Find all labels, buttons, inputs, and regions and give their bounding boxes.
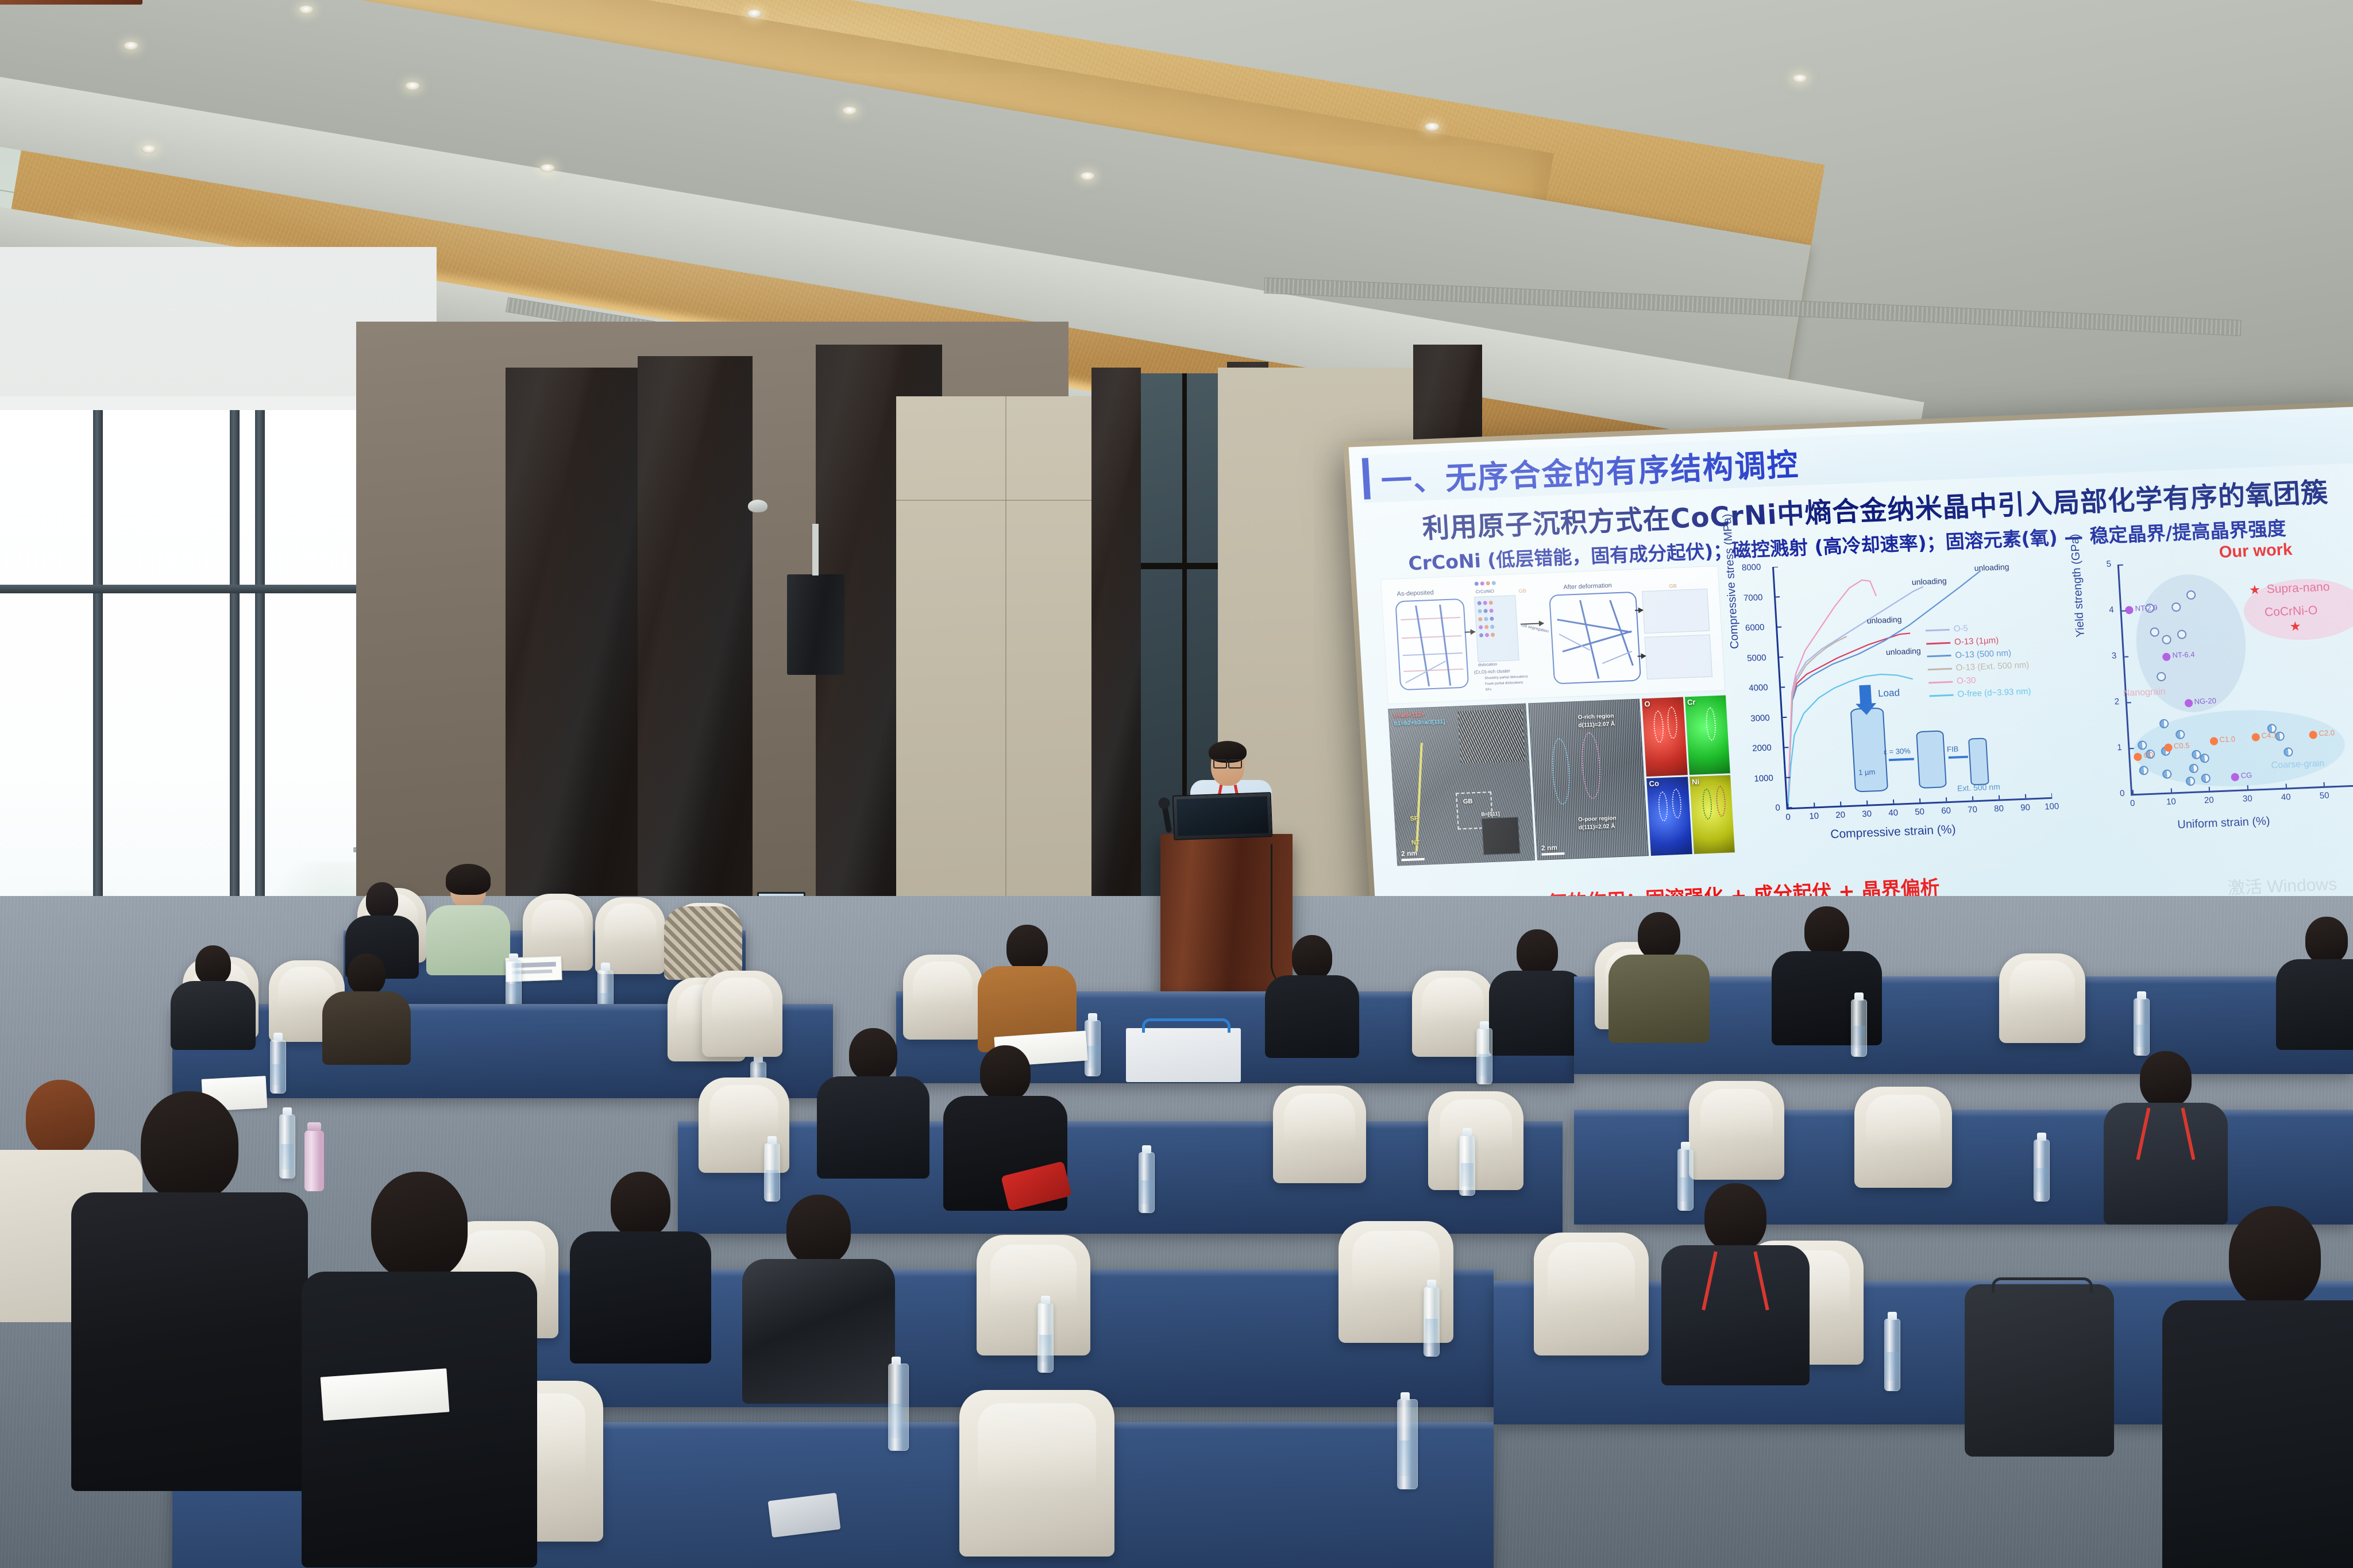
downlight-icon bbox=[141, 145, 156, 153]
tick bbox=[2130, 748, 2134, 749]
water-bottle bbox=[1424, 1287, 1440, 1357]
conference-tote-bag bbox=[1126, 1028, 1241, 1082]
attendee-head bbox=[1517, 929, 1558, 975]
element-label: Co bbox=[1649, 779, 1659, 788]
attendee-olive-hoodie bbox=[1607, 912, 1711, 1041]
chart-a-ylabel: Compressive stress (MPa) bbox=[1721, 513, 1742, 649]
attendee-hair bbox=[446, 864, 491, 895]
water-bottle bbox=[2134, 998, 2150, 1056]
label-gb: GB bbox=[1518, 588, 1526, 594]
water-bottle bbox=[1476, 1028, 1492, 1084]
ytick: 1 bbox=[2117, 743, 2122, 752]
attendee bbox=[170, 945, 256, 1048]
attendee-head bbox=[1006, 925, 1048, 971]
attendee-head bbox=[141, 1091, 238, 1200]
chair[interactable] bbox=[1999, 953, 2085, 1043]
ytick: 0 bbox=[1775, 803, 1780, 813]
backpack bbox=[1965, 1284, 2114, 1457]
tick bbox=[2121, 611, 2126, 612]
attendee bbox=[569, 1172, 712, 1361]
data-point-nanograin bbox=[2177, 629, 2187, 639]
label-alloy: CrCoNiO bbox=[1475, 589, 1494, 594]
xtick: 20 bbox=[2204, 795, 2215, 806]
arrow-icon bbox=[1465, 631, 1475, 633]
chart-b-axes: 5 4 3 2 1 0 0 10 20 30 40 50 60 Na bbox=[2117, 555, 2353, 795]
ceiling-speaker bbox=[787, 574, 844, 675]
downlight-icon bbox=[842, 107, 857, 115]
data-point-coarse-grain bbox=[2175, 729, 2185, 739]
notepad bbox=[321, 1368, 450, 1420]
ytick: 4 bbox=[2109, 605, 2114, 615]
tem-image-dislocation: b=a/6<112> b1=b2+b3=a/3[111] SF NT GB B=… bbox=[1388, 704, 1535, 866]
data-point-label: C1.0 bbox=[2219, 735, 2235, 744]
water-bottle bbox=[270, 1040, 286, 1094]
water-bottle bbox=[1459, 1135, 1475, 1196]
xtick: 50 bbox=[2319, 791, 2329, 801]
ytick: 7000 bbox=[1743, 593, 1763, 603]
legend-item: Frank partial dislocations bbox=[1485, 681, 1523, 686]
tick bbox=[2324, 782, 2325, 786]
slide-title: 一、无序合金的有序结构调控 bbox=[1379, 439, 1800, 501]
inset-load-label: Load bbox=[1878, 687, 1900, 699]
data-point-label: NT-6.4 bbox=[2172, 650, 2195, 660]
window-head-trim bbox=[0, 396, 402, 410]
downlight-icon bbox=[405, 82, 420, 90]
data-point-coarse-grain bbox=[2186, 777, 2196, 786]
data-point-coarse-grain bbox=[2189, 764, 2198, 774]
attendee-red-lanyard bbox=[1660, 1183, 1811, 1384]
downlight-icon bbox=[1792, 75, 1807, 83]
inset-strain-label: ε = 30% bbox=[1884, 747, 1911, 756]
o-poor-label: O-poor region bbox=[1578, 815, 1617, 823]
inset-fib-label: FIB bbox=[1947, 744, 1959, 754]
attendee-torso bbox=[171, 981, 256, 1050]
water-bottle bbox=[279, 1114, 295, 1179]
data-point-coarse-grain bbox=[2201, 774, 2211, 783]
attendee-green-jacket bbox=[425, 867, 511, 976]
eds-map-grid: O Cr Co bbox=[1642, 696, 1735, 856]
data-point-coarse-grain bbox=[2200, 754, 2209, 763]
attendee-torso bbox=[570, 1231, 711, 1364]
lanyard bbox=[2142, 1107, 2190, 1160]
attendee-head bbox=[195, 945, 231, 984]
xtick: 60 bbox=[1941, 806, 1951, 816]
diffraction-pattern-inset bbox=[1482, 817, 1521, 855]
attendee-black-jacket-red-sleeve bbox=[942, 1045, 1069, 1212]
lattice-panel bbox=[1642, 589, 1710, 634]
water-bottle bbox=[1139, 1152, 1155, 1213]
xtick: 90 bbox=[2020, 802, 2031, 813]
eds-map-cobalt: Co bbox=[1646, 777, 1692, 856]
data-point-coarse-grain bbox=[2283, 747, 2293, 757]
annotation-unloading: unloading bbox=[1911, 576, 1947, 586]
attendee-torso bbox=[2276, 959, 2353, 1050]
xtick: 80 bbox=[1994, 804, 2004, 814]
title-accent-bar bbox=[1362, 458, 1371, 499]
load-arrow-head bbox=[1856, 703, 1877, 715]
downlight-icon bbox=[1080, 172, 1095, 180]
chair[interactable] bbox=[959, 1390, 1114, 1557]
data-point-labeled bbox=[2134, 753, 2142, 762]
water-bottle bbox=[1397, 1399, 1418, 1489]
thermos-bottle bbox=[304, 1130, 324, 1191]
scale-bar: 2 nm bbox=[1541, 843, 1564, 856]
data-point-labeled bbox=[2309, 731, 2317, 739]
element-label: Cr bbox=[1687, 698, 1696, 707]
chair[interactable] bbox=[1428, 1091, 1523, 1190]
attendee bbox=[1264, 935, 1360, 1056]
element-label: Ni bbox=[1692, 777, 1700, 786]
annotation-unloading: unloading bbox=[1866, 615, 1902, 625]
tick bbox=[2209, 787, 2210, 791]
chair[interactable] bbox=[1273, 1086, 1366, 1183]
figure-microstructure: As-deposited CrCoNiO GB bbox=[1380, 566, 1735, 866]
ytick: 2 bbox=[2114, 697, 2119, 706]
conference-room-photo: 一、无序合金的有序结构调控 利用原子沉积方式在CoCrNi中熵合金纳米晶中引入局… bbox=[0, 0, 2353, 1568]
label-nt: NT bbox=[1411, 839, 1420, 847]
chair[interactable] bbox=[903, 955, 982, 1040]
data-point-nanograin bbox=[2162, 635, 2171, 644]
label-gb-tem: GB bbox=[1463, 798, 1473, 805]
chart-b-points: NT-2.9NT-6.4NG-20CGC0C0.5C1.0C4.1C2.0 bbox=[2119, 555, 2353, 794]
inset-pillar-before bbox=[1850, 708, 1888, 793]
tem-inset-atomic bbox=[1458, 709, 1525, 764]
ytick: 5 bbox=[2106, 559, 2111, 569]
attendee-torso bbox=[1489, 971, 1586, 1056]
attendee-head bbox=[2229, 1206, 2321, 1307]
label-as-deposited: As-deposited bbox=[1397, 589, 1434, 598]
label-after-deformation: After deformation bbox=[1563, 582, 1612, 590]
data-point-coarse-grain bbox=[2138, 740, 2147, 750]
ytick: 3 bbox=[2112, 651, 2117, 661]
tick bbox=[2247, 785, 2248, 789]
xtick: 0 bbox=[1785, 812, 1791, 822]
podium-top bbox=[0, 0, 142, 5]
tem-image-row: b=a/6<112> b1=b2+b3=a/3[111] SF NT GB B=… bbox=[1388, 696, 1735, 866]
data-point-labeled bbox=[2162, 652, 2171, 661]
label-sf: SF bbox=[1410, 815, 1418, 822]
attendee-glasses bbox=[816, 1028, 931, 1177]
ytick: 6000 bbox=[1745, 623, 1765, 633]
attendee-leather-jacket bbox=[741, 1195, 896, 1401]
tem-image-orich: O-rich region d(111)=2.07 Å O-poor regio… bbox=[1528, 699, 1649, 860]
xtick: 40 bbox=[1888, 808, 1899, 818]
tick bbox=[2170, 788, 2171, 792]
attendee bbox=[322, 953, 411, 1063]
attendee-head bbox=[2305, 917, 2348, 964]
attendee-head bbox=[786, 1195, 851, 1265]
data-point-coarse-grain bbox=[2162, 769, 2172, 779]
data-point-coarse-grain bbox=[2159, 719, 2169, 729]
tick bbox=[2124, 656, 2128, 657]
label-dislocation: dislocation bbox=[1478, 662, 1497, 667]
data-point-label: NT-2.9 bbox=[2135, 603, 2158, 613]
data-point-nanograin bbox=[2150, 627, 2160, 637]
attendee-patterned bbox=[663, 894, 743, 980]
water-bottle bbox=[1884, 1319, 1900, 1391]
ytick: 4000 bbox=[1749, 683, 1768, 693]
o-poor-region-outline bbox=[1550, 738, 1572, 805]
attendee-torso bbox=[322, 991, 411, 1065]
water-bottle bbox=[764, 1143, 780, 1202]
scale-bar: 2 nm bbox=[1401, 849, 1425, 862]
data-point-label: C2.0 bbox=[2319, 728, 2335, 737]
water-bottle bbox=[1037, 1303, 1054, 1373]
element-label: O bbox=[1644, 700, 1650, 708]
data-point-nanograin bbox=[2157, 672, 2166, 682]
attendee-torso bbox=[71, 1192, 308, 1491]
tick bbox=[2285, 783, 2286, 787]
chair[interactable] bbox=[1689, 1081, 1784, 1180]
data-point-coarse-grain bbox=[2139, 766, 2148, 776]
chart-yield-strength: Yield strength (GPa) Uniform strain (%) … bbox=[2075, 540, 2353, 845]
attendee-torso bbox=[664, 906, 742, 980]
ytick: 2000 bbox=[1752, 743, 1772, 753]
arrow-icon bbox=[1635, 609, 1643, 611]
attendee-head bbox=[849, 1028, 897, 1081]
chart-b-xlabel: Uniform strain (%) bbox=[2177, 815, 2270, 832]
zone-axis-label: B=[011] bbox=[1481, 810, 1500, 817]
data-point-label: C0 bbox=[2143, 751, 2153, 760]
attendee-head bbox=[1292, 935, 1332, 980]
attendee-foreground-far-right bbox=[2160, 1206, 2353, 1568]
xtick: 10 bbox=[2166, 797, 2177, 807]
security-camera-icon bbox=[748, 500, 767, 512]
attendee-head bbox=[366, 882, 398, 919]
ytick: 8000 bbox=[1741, 562, 1761, 573]
label-cluster: (Cr,O)-rich cluster bbox=[1474, 669, 1511, 675]
attendee-head bbox=[1638, 912, 1680, 959]
xtick: 30 bbox=[1862, 809, 1872, 819]
attendee-head bbox=[2140, 1051, 2192, 1107]
attendee-foreground-glasses bbox=[69, 1091, 310, 1493]
xtick: 40 bbox=[2281, 792, 2291, 802]
inset-result-label: Ext. 500 nm bbox=[1957, 782, 2001, 793]
legend-item: SFs bbox=[1485, 688, 1491, 692]
xtick: 10 bbox=[1809, 811, 1819, 821]
water-bottle bbox=[1851, 999, 1867, 1057]
attendee-head bbox=[371, 1172, 468, 1280]
ytick: 0 bbox=[2120, 789, 2125, 798]
grain-diagram-after bbox=[1549, 592, 1641, 685]
data-point-label: C4.1 bbox=[2261, 731, 2277, 740]
eds-map-oxygen: O bbox=[1642, 697, 1687, 777]
schematic-panel: As-deposited CrCoNiO GB bbox=[1380, 566, 1725, 704]
data-point-labeled bbox=[2251, 733, 2260, 742]
data-point-nanograin bbox=[2186, 590, 2196, 600]
data-point-labeled bbox=[2184, 699, 2193, 708]
eds-map-nickel: Ni bbox=[1689, 775, 1735, 854]
water-bottle bbox=[506, 960, 522, 1011]
chair[interactable] bbox=[977, 1235, 1090, 1355]
o-rich-label: O-rich region bbox=[1577, 713, 1614, 721]
attendee-head bbox=[980, 1045, 1031, 1100]
chart-stress-strain: Compressive stress (MPa) Compressive str… bbox=[1728, 549, 2085, 856]
ytick: 5000 bbox=[1747, 653, 1766, 663]
xtick: 70 bbox=[1968, 805, 1978, 815]
glasses-icon bbox=[1213, 759, 1242, 766]
tick bbox=[2127, 702, 2131, 703]
attendee-torso bbox=[1608, 955, 1710, 1043]
attendee-torso bbox=[2162, 1300, 2353, 1568]
downlight-icon bbox=[1425, 123, 1440, 131]
attendee-head bbox=[1804, 906, 1849, 956]
label-gb-segregation: GB segregation bbox=[1521, 623, 1549, 634]
downlight-icon bbox=[299, 6, 314, 14]
annotation-unloading: unloading bbox=[1974, 562, 2009, 573]
data-point-our-work bbox=[2290, 621, 2301, 632]
tick bbox=[2119, 565, 2123, 566]
xtick: 0 bbox=[2130, 798, 2135, 808]
ytick: 3000 bbox=[1750, 713, 1770, 724]
data-point-labeled bbox=[2164, 743, 2173, 752]
attendee-head bbox=[348, 953, 385, 995]
attendee-torso bbox=[426, 905, 510, 975]
eds-map-chromium: Cr bbox=[1684, 696, 1730, 775]
stacking-fault-line bbox=[1415, 743, 1423, 852]
water-bottle bbox=[888, 1364, 909, 1451]
water-bottle bbox=[2034, 1140, 2050, 1202]
data-point-nanograin bbox=[2171, 603, 2181, 612]
inset-pillar-compressed bbox=[1916, 730, 1947, 789]
ytick: 1000 bbox=[1754, 773, 1773, 783]
attendee-torso bbox=[1265, 975, 1359, 1058]
data-point-our-work bbox=[2250, 585, 2261, 596]
data-point-label: C0.5 bbox=[2174, 741, 2190, 750]
xtick: 50 bbox=[1915, 807, 1925, 817]
burgers-vector-label: b=a/6<112> bbox=[1394, 712, 1425, 719]
data-point-labeled bbox=[2209, 737, 2218, 746]
attendee-head bbox=[1704, 1183, 1766, 1251]
arrow-icon bbox=[1638, 655, 1646, 657]
downlight-icon bbox=[124, 42, 138, 50]
grain-diagram-before bbox=[1395, 598, 1469, 691]
data-point-labeled bbox=[2231, 773, 2239, 782]
lattice-panel bbox=[1645, 635, 1712, 679]
attendee-torso bbox=[742, 1259, 895, 1404]
attendee bbox=[1488, 929, 1587, 1053]
inset-diameter-label: 1 µm bbox=[1858, 767, 1876, 777]
o-rich-region-outline bbox=[1580, 732, 1602, 799]
burgers-vector-label-2: b1=b2+b3=a/3[111] bbox=[1394, 719, 1445, 727]
legend-item: Shockley partial dislocations bbox=[1484, 675, 1528, 680]
attendee-red-lanyard bbox=[2103, 1051, 2229, 1223]
presenter-laptop[interactable] bbox=[1172, 792, 1273, 840]
xtick: 100 bbox=[2045, 801, 2059, 812]
attendee-head bbox=[611, 1172, 670, 1237]
tick bbox=[2132, 790, 2134, 794]
chart-a-xlabel: Compressive strain (%) bbox=[1830, 823, 1956, 842]
lanyard bbox=[1708, 1251, 1763, 1311]
label-gb-top: GB bbox=[1669, 583, 1677, 589]
annotation-unloading: unloading bbox=[1885, 646, 1921, 656]
xtick: 20 bbox=[1835, 810, 1846, 820]
tick bbox=[2132, 794, 2136, 795]
downlight-icon bbox=[747, 10, 762, 18]
o-poor-value: d(111)=2.02 Å bbox=[1579, 823, 1615, 831]
attendee-torso bbox=[817, 1076, 929, 1179]
o-rich-value: d(111)=2.07 Å bbox=[1578, 721, 1615, 729]
chair[interactable] bbox=[702, 971, 782, 1057]
chart-a-legend: O-5O-13 (1µm)O-13 (500 nm)O-13 (Ext. 500… bbox=[1925, 620, 2031, 702]
inset-pillar-fib bbox=[1968, 737, 1989, 785]
data-point-label: NG-20 bbox=[2194, 696, 2216, 706]
data-point-labeled bbox=[2125, 606, 2134, 615]
chair[interactable] bbox=[1534, 1233, 1649, 1355]
chair[interactable] bbox=[1854, 1087, 1952, 1188]
attendee bbox=[2275, 917, 2353, 1049]
xtick: 30 bbox=[2242, 794, 2252, 804]
downlight-icon bbox=[540, 164, 555, 172]
data-point-label: CG bbox=[2240, 771, 2252, 780]
